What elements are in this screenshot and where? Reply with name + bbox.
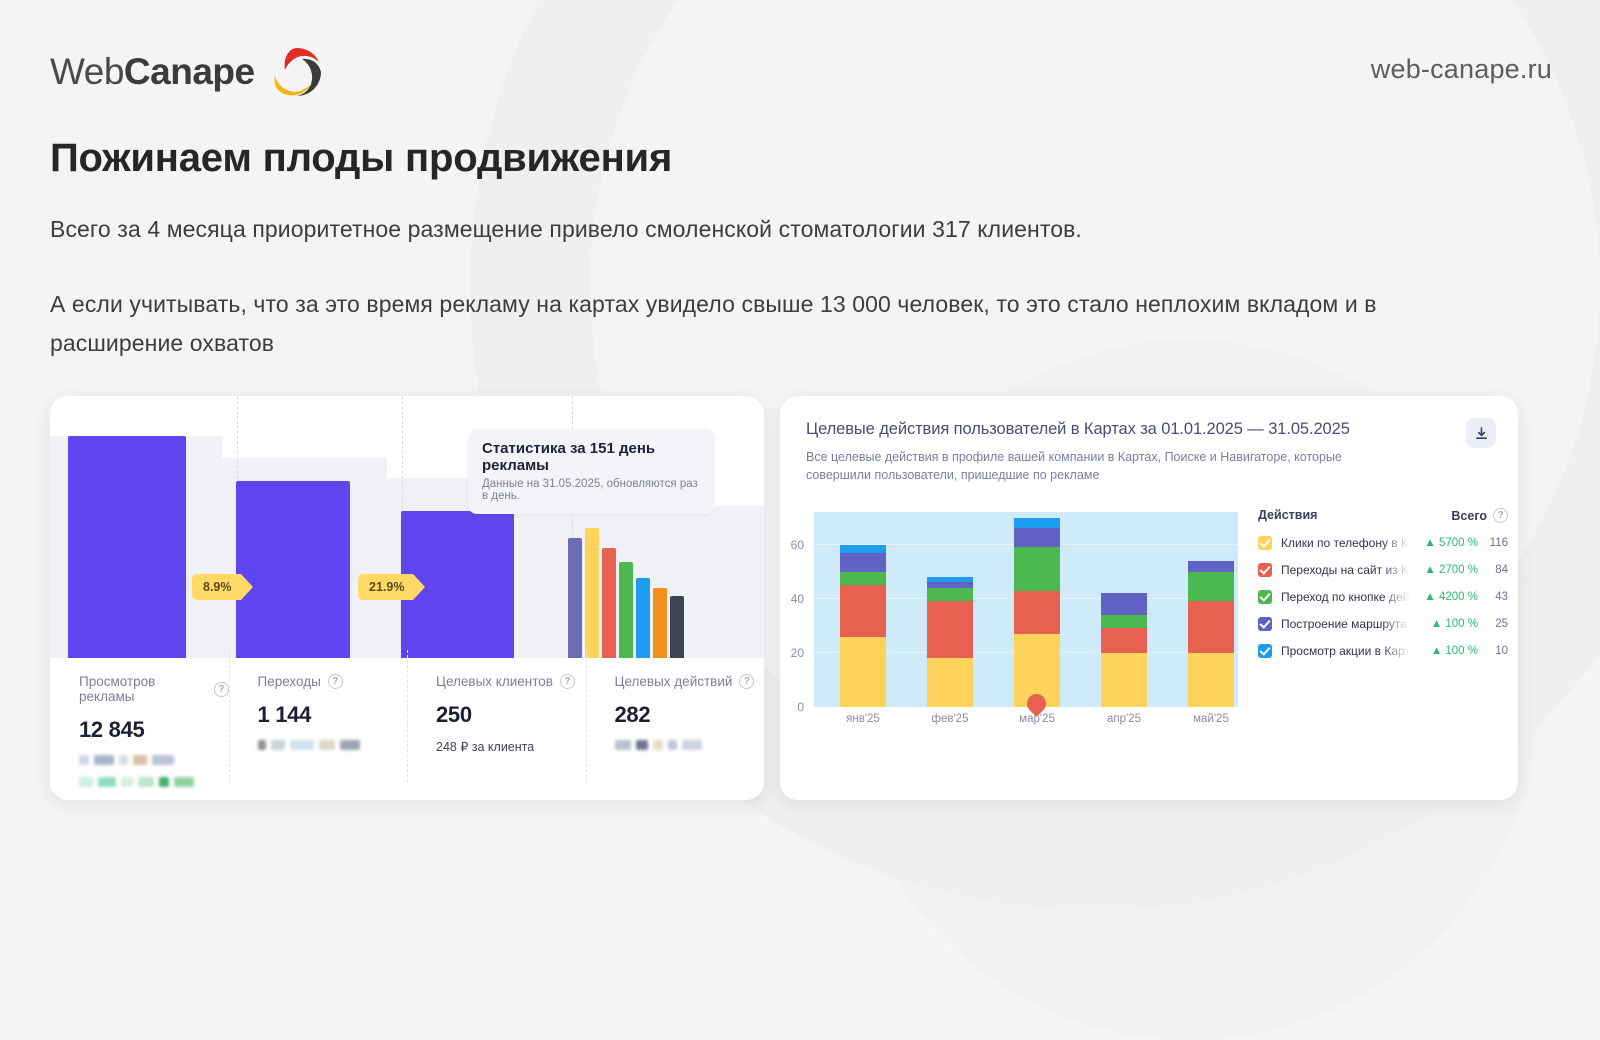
y-tick-0: 0 [797,700,804,714]
funnel-card: 8.9% 21.9% Статистика за 151 день реклам… [50,396,764,800]
metric-target-actions: Целевых действий ? 282 [586,658,765,800]
legend-item-label: Переход по кнопке действия [1281,590,1410,604]
target-actions-title-bold: Целевые действия пользователей в Картах [806,420,1136,438]
metric-clicks-blurred-chips [258,740,408,750]
legend-checkbox[interactable] [1258,536,1272,550]
metric-actions-blurred-chips [615,740,765,750]
metric-clicks-label-row: Переходы ? [258,674,408,689]
legend-item-route[interactable]: Построение маршрута в Картах ▲ 100 % 25 [1258,617,1508,631]
legend-header-row: Действия Всего ? [1258,508,1508,523]
metric-actions-label: Целевых действий [615,674,733,689]
bar-group-may[interactable] [1188,561,1234,707]
y-tick-20: 20 [791,646,804,660]
logo-text-bold: Canape [124,51,255,92]
x-tick-apr: апр'25 [1089,713,1159,725]
legend-item-action-button[interactable]: Переход по кнопке действия ▲ 4200 % 43 [1258,590,1508,604]
metric-views-label: Просмотров рекламы [79,674,207,704]
legend-item-promo-view[interactable]: Просмотр акции в Картах ▲ 100 % 10 [1258,644,1508,658]
legend-item-delta: ▲ 2700 % [1410,564,1478,576]
y-tick-40: 40 [791,592,804,606]
logo-swirl-icon [269,44,325,100]
metric-views-blurred-chips-2 [79,777,229,787]
logo-text-light: Web [50,51,124,92]
download-icon[interactable] [1466,418,1496,448]
legend-header-actions: Действия [1258,508,1413,523]
bar-group-feb[interactable] [927,577,973,707]
metric-views-label-row: Просмотров рекламы ? [79,674,229,704]
y-tick-60: 60 [791,538,804,552]
legend-item-delta: ▲ 100 % [1410,645,1478,657]
bar-group-mar[interactable] [1014,518,1060,707]
funnel-badge-conversion-2: 21.9% [358,574,413,600]
stats-tooltip-title: Статистика за 151 день рекламы [482,440,701,474]
legend-item-site-visits[interactable]: Переходы на сайт из Карт ▲ 2700 % 84 [1258,563,1508,577]
metric-actions-value: 282 [615,702,765,728]
help-icon[interactable]: ? [1493,508,1508,523]
metric-views-value: 12 845 [79,717,229,743]
legend-header-total: Всего [1451,509,1487,523]
legend-item-label: Переходы на сайт из Карт [1281,563,1410,577]
chart-legend: Действия Всего ? Клики по телефону в Кар… [1258,508,1508,671]
metric-clicks: Переходы ? 1 144 [229,658,408,800]
x-tick-may: май'25 [1176,713,1246,725]
legend-item-delta: ▲ 5700 % [1410,537,1478,549]
x-tick-mar: мар'25 [1002,713,1072,725]
legend-checkbox[interactable] [1258,644,1272,658]
help-icon[interactable]: ? [739,674,754,689]
legend-item-delta: ▲ 4200 % [1410,591,1478,603]
legend-item-total: 43 [1478,591,1508,603]
legend-item-label: Построение маршрута в Картах [1281,617,1410,631]
metric-views: Просмотров рекламы ? 12 845 [50,658,229,800]
x-tick-feb: фев'25 [915,713,985,725]
legend-item-total: 84 [1478,564,1508,576]
chart-plot-area [814,512,1238,707]
legend-checkbox[interactable] [1258,563,1272,577]
help-icon[interactable]: ? [560,674,575,689]
legend-header-total-wrap: Всего ? [1413,508,1508,523]
intro-paragraph-1: Всего за 4 месяца приоритетное размещени… [50,216,1082,243]
legend-item-delta: ▲ 100 % [1410,618,1478,630]
legend-item-total: 25 [1478,618,1508,630]
site-url: web-canape.ru [1371,54,1552,85]
legend-item-label: Просмотр акции в Картах [1281,644,1410,658]
target-actions-title-period: за 01.01.2025 — 31.05.2025 [1140,420,1350,438]
webcanape-logo: WebCanape [50,44,325,100]
metric-clients-value: 250 [436,702,586,728]
x-tick-jan: янв'25 [828,713,898,725]
metric-views-blurred-chips [79,755,229,765]
funnel-mini-bars [568,528,684,658]
target-actions-header: Целевые действия пользователей в Картах … [780,396,1518,484]
bar-group-jan[interactable] [840,545,886,707]
metric-clicks-label: Переходы [258,674,321,689]
legend-item-label: Клики по телефону в Картах [1281,536,1410,550]
page-title: Пожинаем плоды продвижения [50,136,672,181]
help-icon[interactable]: ? [328,674,343,689]
logo-wordmark: WebCanape [50,51,255,93]
metric-clients-subtext: 248 ₽ за клиента [436,739,586,754]
help-icon[interactable]: ? [214,682,228,697]
metric-clicks-value: 1 144 [258,702,408,728]
legend-item-total: 10 [1478,645,1508,657]
legend-item-total: 116 [1478,537,1508,549]
stats-tooltip: Статистика за 151 день рекламы Данные на… [468,429,715,514]
funnel-badge-conversion-1: 8.9% [192,574,241,600]
funnel-bar-clicks [236,481,350,658]
legend-checkbox[interactable] [1258,617,1272,631]
metric-actions-label-row: Целевых действий ? [615,674,765,689]
funnel-bar-views [68,436,186,658]
metric-clients-label: Целевых клиентов [436,674,553,689]
metric-clients-label-row: Целевых клиентов ? [436,674,586,689]
target-actions-title: Целевые действия пользователей в Картах … [806,420,1492,439]
metric-target-clients: Целевых клиентов ? 250 248 ₽ за клиента [407,658,586,800]
legend-item-phone-clicks[interactable]: Клики по телефону в Картах ▲ 5700 % 116 [1258,536,1508,550]
stats-tooltip-subtitle: Данные на 31.05.2025, обновляются раз в … [482,478,701,502]
legend-checkbox[interactable] [1258,590,1272,604]
funnel-chart: 8.9% 21.9% Статистика за 151 день реклам… [50,396,764,658]
intro-paragraph-2: А если учитывать, что за это время рекла… [50,285,1480,363]
bar-group-apr[interactable] [1101,593,1147,707]
funnel-metrics-row: Просмотров рекламы ? 12 845 Переходы [50,658,764,800]
target-actions-subtitle: Все целевые действия в профиле вашей ком… [806,448,1406,484]
